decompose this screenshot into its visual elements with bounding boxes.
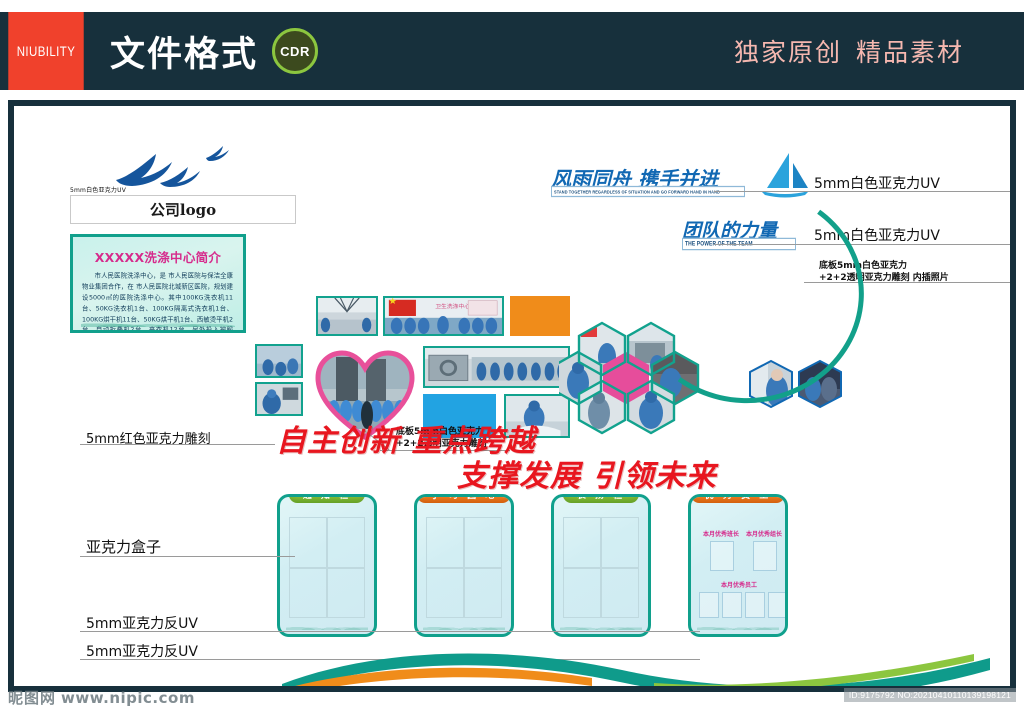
board-cell[interactable] (601, 517, 639, 568)
board-cell[interactable] (426, 568, 464, 619)
photo-laundry-line (423, 346, 570, 388)
board-grass-decor (286, 618, 368, 630)
uv2-material-label: 5mm亚克力反UV (86, 641, 198, 661)
board-cell[interactable] (426, 517, 464, 568)
header-tagline: 独家原创精品素材 (734, 33, 964, 69)
site-watermark: 昵图网 www.nipic.com (8, 687, 195, 708)
uv1-material-label: 5mm亚克力反UV (86, 613, 198, 633)
star-label-leader: 本月优秀班长 (703, 529, 739, 538)
box-material-label: 亚克力盒子 (86, 536, 161, 557)
board-cell[interactable] (563, 568, 601, 619)
board-cell[interactable] (601, 568, 639, 619)
page-header: NIUBILITY 文件格式 CDR 独家原创精品素材 (0, 12, 1024, 90)
sail-material-label: 5mm白色亚克力UV (814, 173, 940, 193)
board-grass-decor (423, 618, 505, 630)
watermark-cn: 昵图网 (8, 687, 56, 708)
photo-thumb-2 (255, 382, 303, 416)
artboard-canvas: 5mm白色亚克力UV 公司logo XXXXX洗涤中心简介 市人民医院洗涤中心，… (14, 106, 1010, 686)
board-cell[interactable] (464, 517, 502, 568)
board-praise-grid (563, 517, 639, 618)
intro-panel: XXXXX洗涤中心简介 市人民医院洗涤中心，是 市人民医院与保洁全康物业集团合作… (70, 234, 246, 333)
star-photo-frame[interactable] (768, 592, 788, 618)
board-study[interactable]: 学 习 园 地 (414, 494, 514, 637)
photo-group-meeting: 卫生洗涤中心 (383, 296, 504, 336)
board-study-grid (426, 517, 502, 618)
board-notice[interactable]: 通 知 栏 (277, 494, 377, 637)
page-title: 文件格式 (110, 26, 258, 77)
star-label-groupleader: 本月优秀组长 (746, 529, 782, 538)
star-photo-frame[interactable] (699, 592, 719, 618)
star-photo-frame[interactable] (753, 541, 777, 571)
board-cell[interactable] (563, 517, 601, 568)
board-cell[interactable] (464, 568, 502, 619)
star-photo-frame[interactable] (722, 592, 742, 618)
board-praise[interactable]: 表 扬 栏 (551, 494, 651, 637)
board-study-cap: 学 习 园 地 (417, 494, 511, 503)
headline-material-label: 5mm红色亚克力雕刻 (86, 428, 211, 447)
board-cell[interactable] (327, 568, 365, 619)
board-grass-decor (697, 618, 779, 630)
board-praise-cap: 表 扬 栏 (563, 494, 639, 503)
footer-wave-decor (262, 636, 1010, 686)
board-cell[interactable] (327, 517, 365, 568)
intro-title: XXXXX洗涤中心简介 (82, 247, 234, 266)
intro-grass-decor (81, 313, 235, 327)
header-tagline-part-2: 精品素材 (856, 38, 964, 67)
photo-equipment-1 (316, 296, 378, 336)
poster-page: NIUBILITY 文件格式 CDR 独家原创精品素材 5mm白色亚克力UV 公… (0, 0, 1024, 712)
board-cell[interactable] (289, 568, 327, 619)
header-tagline-part-1: 独家原创 (734, 38, 842, 67)
headline-line-2: 支撑发展 引领未来 (457, 451, 716, 495)
board-notice-grid (289, 517, 365, 618)
board-cell[interactable] (289, 517, 327, 568)
board-notice-cap: 通 知 栏 (289, 494, 365, 503)
board-star-cap: 优 秀 员 工 (691, 494, 785, 503)
brand-logo: NIUBILITY (8, 12, 83, 90)
seagulls-icon (108, 142, 238, 192)
board-grass-decor (560, 618, 642, 630)
watermark-url: www.nipic.com (61, 689, 195, 707)
artboard-frame: 5mm白色亚克力UV 公司logo XXXXX洗涤中心简介 市人民医院洗涤中心，… (8, 100, 1016, 692)
star-photo-frame[interactable] (745, 592, 765, 618)
company-logo-box: 公司logo (70, 195, 296, 224)
logo-material-label: 5mm白色亚克力UV (70, 185, 126, 194)
photo-thumb-1 (255, 344, 303, 378)
svg-text:卫生洗涤中心: 卫生洗涤中心 (435, 302, 470, 310)
file-format-badge: CDR (272, 28, 318, 74)
board-star-employee[interactable]: 优 秀 员 工 本月优秀班长 本月优秀组长 本月优秀员工 (688, 494, 788, 637)
star-label-employee: 本月优秀员工 (721, 580, 757, 589)
image-id-tag: ID:9175792 NO:20210410110139198121 (844, 688, 1016, 702)
star-photo-frame[interactable] (710, 541, 734, 571)
